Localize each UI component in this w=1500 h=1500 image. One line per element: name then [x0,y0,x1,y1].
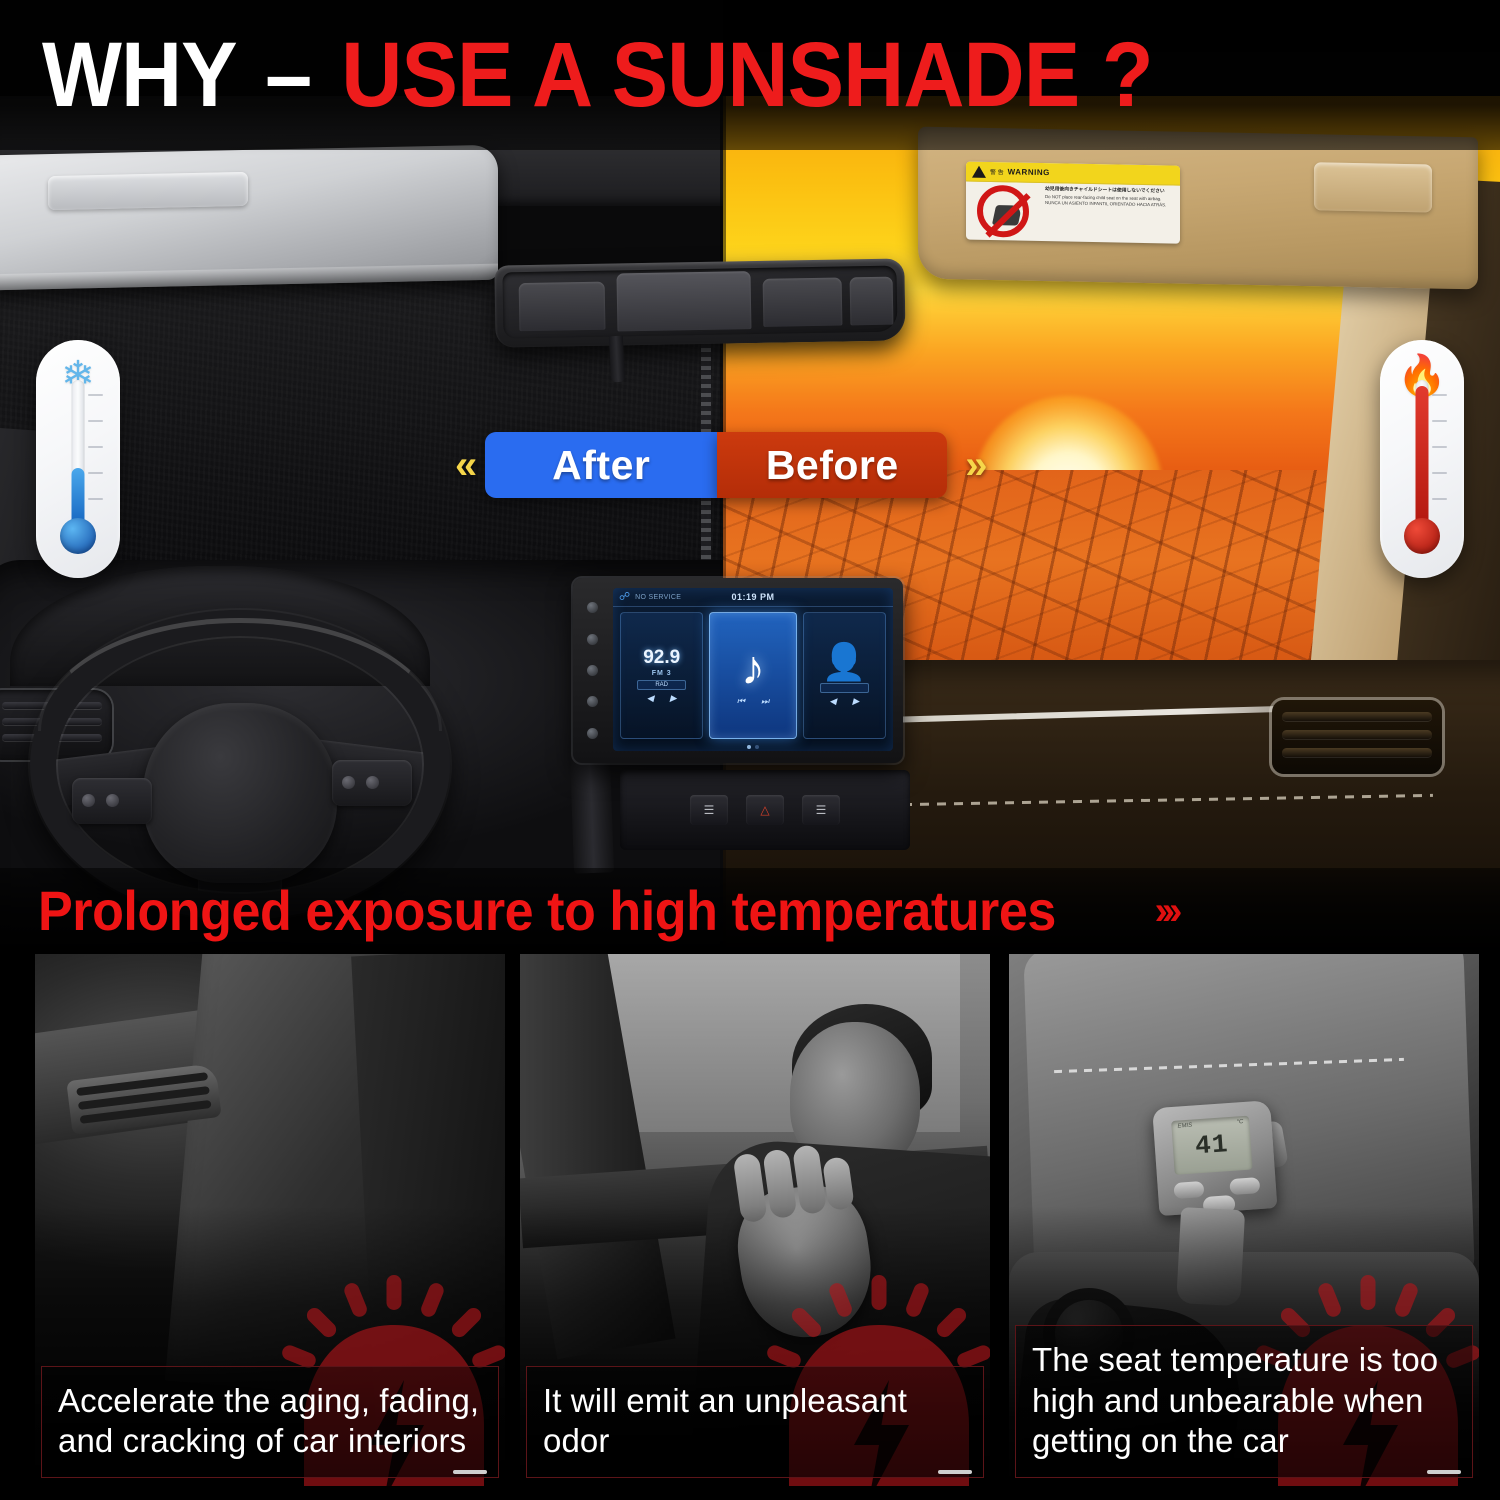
benefit-panels: Accelerate the aging, fading, and cracki… [0,948,1500,1500]
panel-odor: It will emit an unpleasant odor [520,952,990,1486]
car-infotainment-screen: ☍ NO SERVICE 01:19 PM 92.9 FM 3 RAD ◀ ▶ [573,578,903,763]
rearview-mirror-stem [609,336,625,383]
panel-caption: The seat temperature is too high and unb… [1015,1325,1473,1478]
title-dash: – [265,24,311,126]
volume-key-icon[interactable] [587,696,598,707]
thermometer-reading: 41 [1194,1131,1229,1159]
page-indicator-dots[interactable] [613,745,893,749]
profile-next-icon[interactable]: ▶ [852,696,859,707]
warning-pictogram [966,182,1040,241]
panel-caption: It will emit an unpleasant odor [526,1366,984,1479]
thermometer-label-right: °C [1236,1119,1243,1125]
thermometer-display: EMIS °C 41 [1171,1116,1253,1175]
radio-band-label: FM 3 [652,670,672,677]
warning-label-word: WARNING [1008,167,1050,177]
radio-next-icon[interactable]: ▶ [670,693,677,704]
tile-media[interactable]: ♪ ⏮ ⏭ [709,612,796,739]
caption-underline [453,1470,487,1474]
status-bar: ☍ NO SERVICE 01:19 PM [613,588,893,607]
headline-text: Prolonged exposure to high temperatures [38,883,1056,939]
tile-radio[interactable]: 92.9 FM 3 RAD ◀ ▶ [620,612,703,739]
media-prev-icon[interactable]: ⏮ [737,696,745,707]
home-tiles: 92.9 FM 3 RAD ◀ ▶ ♪ ⏮ ⏭ [620,612,886,739]
radio-prev-icon[interactable]: ◀ [647,693,654,704]
caption-underline [938,1470,972,1474]
media-next-icon[interactable]: ⏭ [761,696,769,707]
thermometer-button-left[interactable] [1173,1181,1204,1199]
steering-controls-right [332,760,412,806]
thermometer-body: EMIS °C 41 [1152,1100,1277,1216]
warning-label-cjk: 警 告 [990,167,1004,176]
warning-text-es: NUNCA UN ASIENTO INFANTIL ORIENTADO HACI… [1045,200,1166,207]
warning-label-text: 幼児用後向きチャイルドシートは使用しないでください Do NOT place r… [1040,183,1180,244]
clock-label: 01:19 PM [613,592,893,602]
music-note-icon: ♪ [741,645,765,693]
chevron-left-icon: « [455,445,475,485]
headline-bar: Prolonged exposure to high temperatures … [0,868,1500,954]
warning-triangle-icon [972,165,986,177]
menu-key-icon[interactable] [587,665,598,676]
infographic-page: 警 告 WARNING 幼児用後向きチャイルドシートは使用しないでください Do… [0,0,1500,1500]
cold-thermometer-ticks [88,394,108,524]
steering-controls-left [72,778,152,824]
cold-thermometer-bulb [60,518,96,554]
sun-visor-left [0,145,498,291]
center-console-buttons: ☰ △ ☰ [620,770,910,850]
panel-aging: Accelerate the aging, fading, and cracki… [35,952,505,1486]
thermometer-label-left: EMIS [1177,1123,1192,1130]
visor-clip-right [1314,162,1432,212]
head-unit-side-keys[interactable] [576,592,608,749]
radio-frequency-value: 92.9 [643,648,680,667]
panel-caption: Accelerate the aging, fading, and cracki… [41,1366,499,1479]
defrost-front-button[interactable]: ☰ [802,795,840,825]
head-unit-mount [570,754,614,873]
power-key-icon[interactable] [587,602,598,613]
hot-thermometer-bulb [1404,518,1440,554]
profile-bar[interactable] [820,683,870,693]
rearview-mirror-glass [502,266,897,339]
air-vent-right [1272,700,1442,774]
cold-thermometer: ❄ [36,340,120,578]
rearview-mirror [494,258,905,347]
eject-key-icon[interactable] [587,728,598,739]
title-part-2: USE A SUNSHADE ? [341,24,1152,126]
page-title: WHY – USE A SUNSHADE ? [42,29,1153,121]
warning-label-body: 幼児用後向きチャイルドシートは使用しないでください Do NOT place r… [966,182,1180,244]
home-key-icon[interactable] [587,634,598,645]
defrost-rear-button[interactable]: ☰ [690,795,728,825]
sun-visor-right: 警 告 WARNING 幼児用後向きチャイルドシートは使用しないでください Do… [918,127,1478,290]
media-controls[interactable]: ⏮ ⏭ [737,696,769,707]
no-rear-facing-child-seat-icon [977,185,1029,238]
hazard-light-button[interactable]: △ [746,795,784,825]
hot-thermometer-ticks [1432,394,1452,524]
radio-preset-bar[interactable]: RAD [637,680,687,690]
headline-chevrons-icon: ››› [1154,889,1176,934]
visor-warning-label: 警 告 WARNING 幼児用後向きチャイルドシートは使用しないでください Do… [966,162,1180,244]
visor-clip-left [48,172,248,210]
head-unit-display[interactable]: ☍ NO SERVICE 01:19 PM 92.9 FM 3 RAD ◀ ▶ [613,588,893,751]
tile-profile[interactable]: 👤 ◀ ▶ [803,612,886,739]
after-badge[interactable]: After [485,432,717,498]
person-icon: 👤 [822,644,867,680]
chevron-right-icon: » [957,445,977,485]
title-bar: WHY – USE A SUNSHADE ? [0,0,1500,150]
before-badge[interactable]: Before [717,432,947,498]
caption-underline [1427,1470,1461,1474]
panel-seat-temp: EMIS °C 41 [1009,952,1479,1486]
thermometer-button-right[interactable] [1229,1177,1260,1195]
hot-thermometer: 🔥 [1380,340,1464,578]
title-part-1: WHY [42,24,235,126]
radio-controls[interactable]: ◀ ▶ [647,693,677,704]
before-after-badge-row: « After Before » [455,432,978,498]
hot-thermometer-fill [1416,386,1429,526]
profile-controls[interactable]: ◀ ▶ [829,696,859,707]
profile-prev-icon[interactable]: ◀ [829,696,836,707]
